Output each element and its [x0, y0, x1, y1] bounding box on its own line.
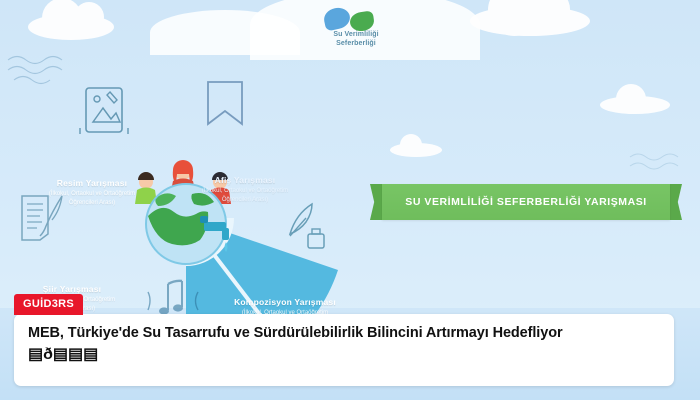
caption-subline: ▤ð▤▤▤	[28, 344, 660, 366]
caption-card: MEB, Türkiye'de Su Tasarrufu ve Sürdürül…	[14, 314, 674, 386]
banner-text: SU VERİMLİLİĞİ SEFERBERLİĞİ YARIŞMASI	[405, 196, 646, 208]
leaf-green-icon	[349, 10, 375, 32]
logo: Su Verimliliği Seferberliği	[300, 6, 412, 54]
screenshot-root: Su Verimliliği Seferberliği	[0, 0, 700, 400]
cloud-icon-1	[28, 14, 114, 40]
water-drop-blue-icon	[322, 6, 352, 32]
caption-headline: MEB, Türkiye'de Su Tasarrufu ve Sürdürül…	[28, 323, 660, 343]
cloud-icon-4	[600, 96, 670, 114]
logo-droplets	[300, 6, 412, 30]
quill-inkpot-icon	[290, 204, 324, 248]
cloud-icon-2	[470, 6, 590, 36]
source-badge[interactable]: GUİD3RS	[14, 294, 83, 315]
competition-banner: SU VERİMLİLİĞİ SEFERBERLİĞİ YARIŞMASI	[382, 184, 670, 220]
paper-feather-icon	[22, 196, 62, 240]
wavy-lines-icon-right	[628, 150, 688, 178]
logo-line-1: Su Verimliliği	[300, 30, 412, 39]
logo-line-2: Seferberliği	[300, 39, 412, 48]
banner-ribbon-icon	[208, 82, 242, 124]
drawing-easel-icon	[80, 88, 128, 134]
cloud-icon-3	[390, 143, 442, 157]
hill-shape-small	[150, 10, 300, 55]
